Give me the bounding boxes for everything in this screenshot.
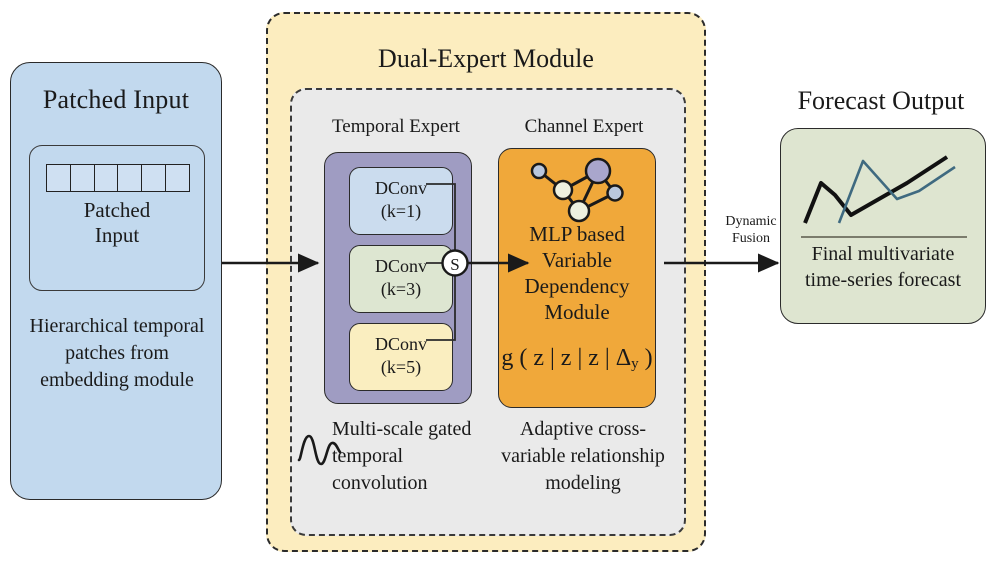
channel-expert-caption: Adaptive cross-variable relationship mod… (490, 416, 676, 497)
temporal-expert-caption: Multi-scale gated temporal convolution (332, 416, 496, 497)
channel-expert-heading: Channel Expert (492, 116, 676, 138)
channel-expert-container: MLP based Variable Dependency Module g (… (498, 148, 656, 408)
dynamic-fusion-label: Dynamic Fusion (714, 213, 788, 247)
dynamic-fusion-line2: Fusion (714, 230, 788, 247)
patch-cell (118, 165, 142, 191)
patch-strip (46, 164, 190, 192)
dconv-block-k3: DConv (k=3) (349, 245, 453, 313)
forecast-output-caption: Final multivariate time-series forecast (781, 241, 985, 293)
dynamic-fusion-line1: Dynamic (714, 213, 788, 230)
formula-subscript: y (631, 356, 639, 372)
graph-nodes-icon (526, 157, 630, 223)
dconv-k3-name: DConv (350, 255, 452, 278)
dconv-k1-kernel: (k=1) (350, 200, 452, 223)
patched-input-inner-label-line1: Patched (30, 198, 204, 223)
channel-expert-formula: g ( z | z | z | Δy ) (499, 345, 655, 373)
dconv-block-k5: DConv (k=5) (349, 323, 453, 391)
temporal-expert-heading: Temporal Expert (306, 116, 486, 138)
dconv-k1-name: DConv (350, 177, 452, 200)
dual-expert-title: Dual-Expert Module (268, 44, 704, 74)
forecast-output-card: Final multivariate time-series forecast (780, 128, 986, 324)
channel-expert-text: MLP based Variable Dependency Module (499, 221, 655, 325)
patched-input-inner-box: Patched Input (29, 145, 205, 291)
dconv-block-k1: DConv (k=1) (349, 167, 453, 235)
channel-expert-text-line3: Dependency (499, 273, 655, 299)
patched-input-inner-label: Patched Input (30, 198, 204, 248)
temporal-expert-container: DConv (k=1) DConv (k=3) DConv (k=5) (324, 152, 472, 404)
experts-panel: Temporal Expert Channel Expert DConv (k=… (290, 88, 686, 536)
patched-input-caption: Hierarchical temporal patches from embed… (19, 313, 215, 394)
channel-expert-text-line4: Module (499, 299, 655, 325)
patched-input-card: Patched Input Patched Input Hierarchical… (10, 62, 222, 500)
formula-main: g ( z | z | z | Δ (501, 345, 631, 371)
patched-input-title: Patched Input (11, 85, 221, 115)
formula-close: ) (639, 345, 653, 371)
channel-expert-text-line2: Variable (499, 247, 655, 273)
patch-cell (47, 165, 71, 191)
dconv-k3-kernel: (k=3) (350, 278, 452, 301)
patch-cell (95, 165, 119, 191)
forecast-chart-icon (789, 139, 979, 243)
channel-expert-text-line1: MLP based (499, 221, 655, 247)
dconv-k5-kernel: (k=5) (350, 356, 452, 379)
forecast-caption-line1: Final multivariate (781, 241, 985, 267)
forecast-output-title: Forecast Output (770, 86, 992, 116)
patch-cell (71, 165, 95, 191)
patched-input-inner-label-line2: Input (30, 223, 204, 248)
dconv-k5-name: DConv (350, 333, 452, 356)
dual-expert-module: Dual-Expert Module Temporal Expert Chann… (266, 12, 706, 552)
patch-cell (142, 165, 166, 191)
patch-cell (166, 165, 189, 191)
forecast-caption-line2: time-series forecast (781, 267, 985, 293)
